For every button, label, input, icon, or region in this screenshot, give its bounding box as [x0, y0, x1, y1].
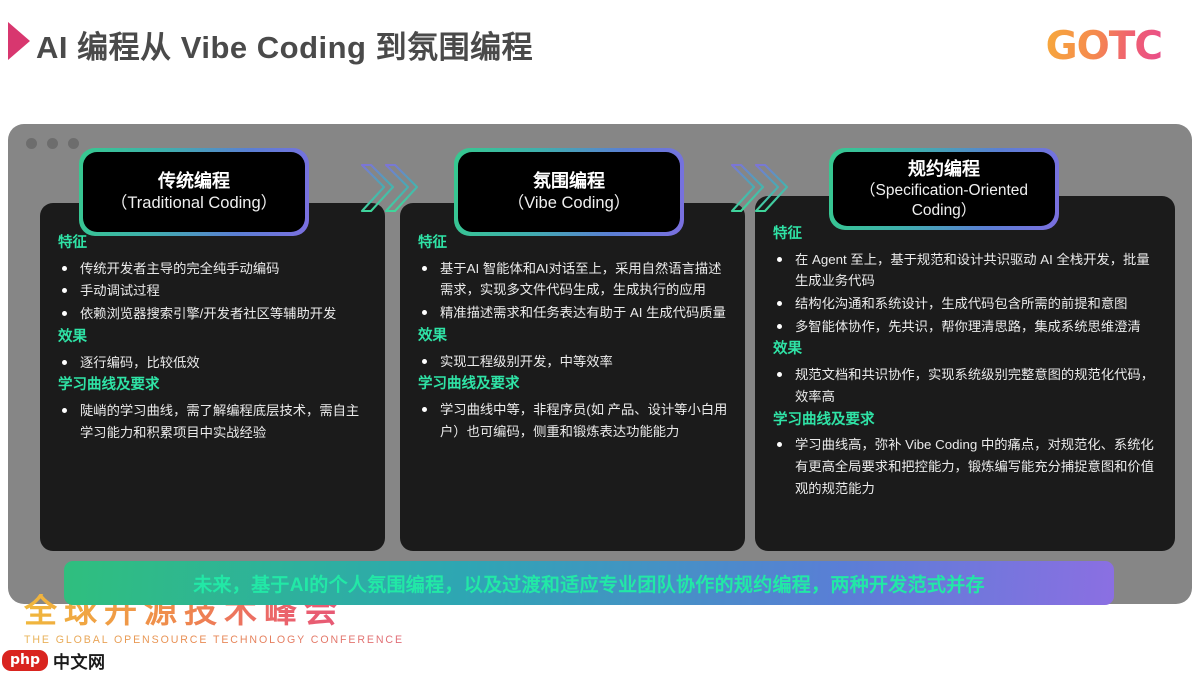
bullet-list: 传统开发者主导的完全纯手动编码 手动调试过程 依赖浏览器搜索引擎/开发者社区等辅…: [58, 258, 371, 325]
summary-banner-text: 未来，基于AI的个人氛围编程，以及过渡和适应专业团队协作的规约编程，两种开发范式…: [193, 570, 985, 597]
column-card-vibe: 特征 基于AI 智能体和AI对话至上，采用自然语言描述需求，实现多文件代码生成，…: [400, 203, 745, 551]
column-title-cn: 规约编程: [908, 157, 980, 181]
page-title: AI 编程从 Vibe Coding 到氛围编程: [36, 22, 533, 67]
list-item: 多智能体协作，先共识，帮你理清思路，集成系统思维澄清: [773, 316, 1161, 338]
php-watermark-label: 中文网: [53, 648, 106, 673]
section-heading: 效果: [773, 339, 1161, 361]
bullet-list: 学习曲线高，弥补 Vibe Coding 中的痛点，对规范化、系统化有更高全局要…: [773, 434, 1161, 499]
window-dot-3: [68, 138, 79, 149]
php-badge: php: [2, 650, 48, 672]
column-title-en: （Traditional Coding）: [111, 193, 277, 214]
list-item: 规范文档和共识协作，实现系统级别完整意图的规范化代码，效率高: [773, 364, 1161, 407]
column-title-cn: 氛围编程: [533, 169, 605, 193]
list-item: 逐行编码，比较低效: [58, 352, 371, 374]
section-heading: 学习曲线及要求: [58, 375, 371, 397]
section-heading: 效果: [58, 327, 371, 349]
bullet-list: 学习曲线中等，非程序员(如 产品、设计等小白用户）也可编码，侧重和锻炼表达功能能…: [418, 399, 731, 442]
column-card-traditional: 特征 传统开发者主导的完全纯手动编码 手动调试过程 依赖浏览器搜索引擎/开发者社…: [40, 203, 385, 551]
gotc-logo: GOTC: [1046, 24, 1162, 69]
bullet-list: 逐行编码，比较低效: [58, 352, 371, 374]
card-body: 特征 在 Agent 至上，基于规范和设计共识驱动 AI 全栈开发，批量生成业务…: [755, 196, 1175, 510]
list-item: 基于AI 智能体和AI对话至上，采用自然语言描述需求，实现多文件代码生成，生成执…: [418, 258, 731, 301]
column-title-traditional: 传统编程 （Traditional Coding）: [81, 150, 307, 234]
list-item: 手动调试过程: [58, 280, 371, 302]
chevron-arrows-1-to-2-icon: [358, 160, 422, 218]
list-item: 实现工程级别开发，中等效率: [418, 351, 731, 373]
card-body: 特征 传统开发者主导的完全纯手动编码 手动调试过程 依赖浏览器搜索引擎/开发者社…: [40, 203, 385, 454]
card-body: 特征 基于AI 智能体和AI对话至上，采用自然语言描述需求，实现多文件代码生成，…: [400, 203, 745, 453]
triangle-marker-icon: [8, 22, 30, 60]
bullet-list: 实现工程级别开发，中等效率: [418, 351, 731, 373]
section-heading: 学习曲线及要求: [773, 410, 1161, 432]
bullet-list: 在 Agent 至上，基于规范和设计共识驱动 AI 全栈开发，批量生成业务代码 …: [773, 249, 1161, 338]
section-heading: 特征: [418, 233, 731, 255]
chevron-arrows-2-to-3-icon: [728, 160, 792, 218]
list-item: 精准描述需求和任务表达有助于 AI 生成代码质量: [418, 302, 731, 324]
list-item: 学习曲线高，弥补 Vibe Coding 中的痛点，对规范化、系统化有更高全局要…: [773, 434, 1161, 499]
list-item: 学习曲线中等，非程序员(如 产品、设计等小白用户）也可编码，侧重和锻炼表达功能能…: [418, 399, 731, 442]
list-item: 在 Agent 至上，基于规范和设计共识驱动 AI 全栈开发，批量生成业务代码: [773, 249, 1161, 292]
column-card-specification: 特征 在 Agent 至上，基于规范和设计共识驱动 AI 全栈开发，批量生成业务…: [755, 196, 1175, 551]
list-item: 陡峭的学习曲线，需了解编程底层技术，需自主学习能力和积累项目中实战经验: [58, 400, 371, 443]
column-title-specification: 规约编程 （Specification-Oriented Coding）: [831, 150, 1057, 228]
window-dot-2: [47, 138, 58, 149]
bullet-list: 规范文档和共识协作，实现系统级别完整意图的规范化代码，效率高: [773, 364, 1161, 407]
section-heading: 效果: [418, 326, 731, 348]
column-title-cn: 传统编程: [158, 169, 230, 193]
column-title-en: （Specification-Oriented Coding）: [833, 181, 1055, 221]
conference-name-en: THE GLOBAL OPENSOURCE TECHNOLOGY CONFERE…: [24, 634, 404, 646]
bullet-list: 陡峭的学习曲线，需了解编程底层技术，需自主学习能力和积累项目中实战经验: [58, 400, 371, 443]
bullet-list: 基于AI 智能体和AI对话至上，采用自然语言描述需求，实现多文件代码生成，生成执…: [418, 258, 731, 324]
window-dot-1: [26, 138, 37, 149]
section-heading: 学习曲线及要求: [418, 374, 731, 396]
section-heading: 特征: [58, 233, 371, 255]
summary-banner: 未来，基于AI的个人氛围编程，以及过渡和适应专业团队协作的规约编程，两种开发范式…: [66, 563, 1112, 603]
list-item: 传统开发者主导的完全纯手动编码: [58, 258, 371, 280]
list-item: 依赖浏览器搜索引擎/开发者社区等辅助开发: [58, 303, 371, 325]
slide-header: AI 编程从 Vibe Coding 到氛围编程 GOTC: [0, 0, 1200, 100]
column-title-vibe: 氛围编程 （Vibe Coding）: [456, 150, 682, 234]
column-title-en: （Vibe Coding）: [508, 193, 631, 214]
window-dots: [26, 138, 79, 149]
list-item: 结构化沟通和系统设计，生成代码包含所需的前提和意图: [773, 293, 1161, 315]
php-watermark: php 中文网: [2, 648, 106, 673]
